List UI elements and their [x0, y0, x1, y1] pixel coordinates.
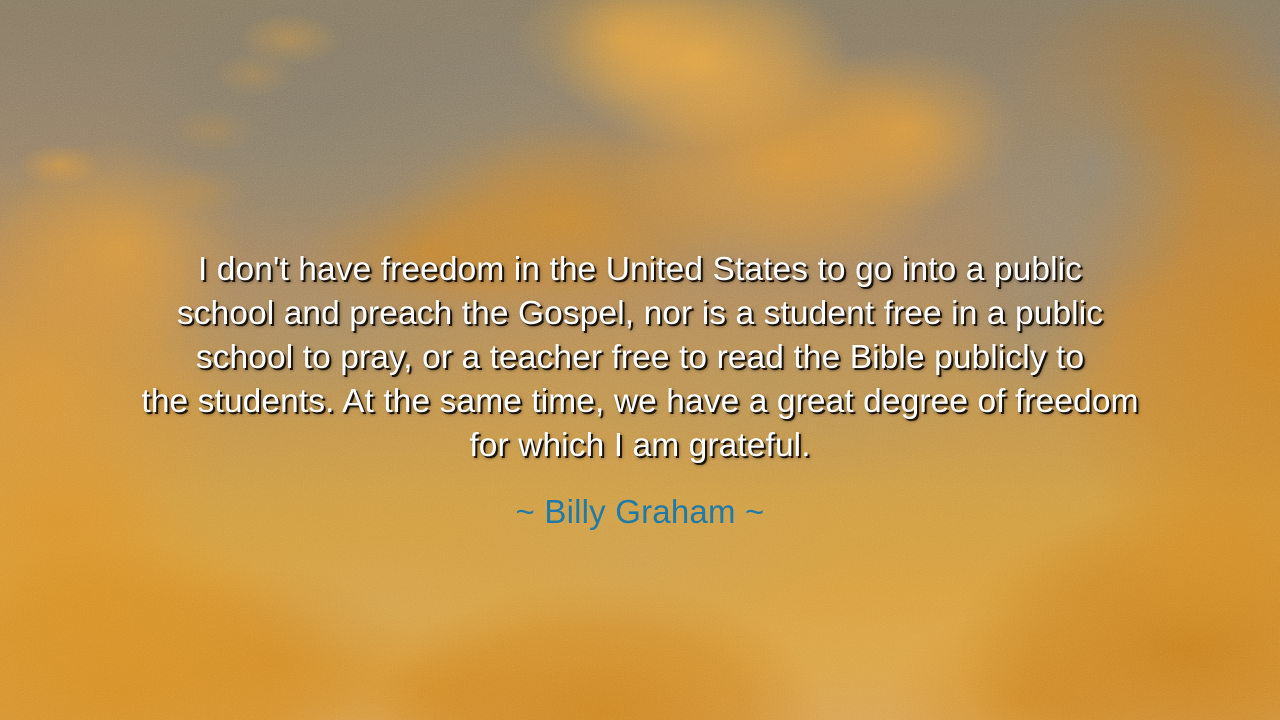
quote-image-canvas: I don't have freedom in the United State… — [0, 0, 1280, 720]
quote-attribution: ~ Billy Graham ~ — [0, 492, 1280, 532]
quote-block: I don't have freedom in the United State… — [0, 248, 1280, 532]
quote-text: I don't have freedom in the United State… — [80, 248, 1200, 468]
